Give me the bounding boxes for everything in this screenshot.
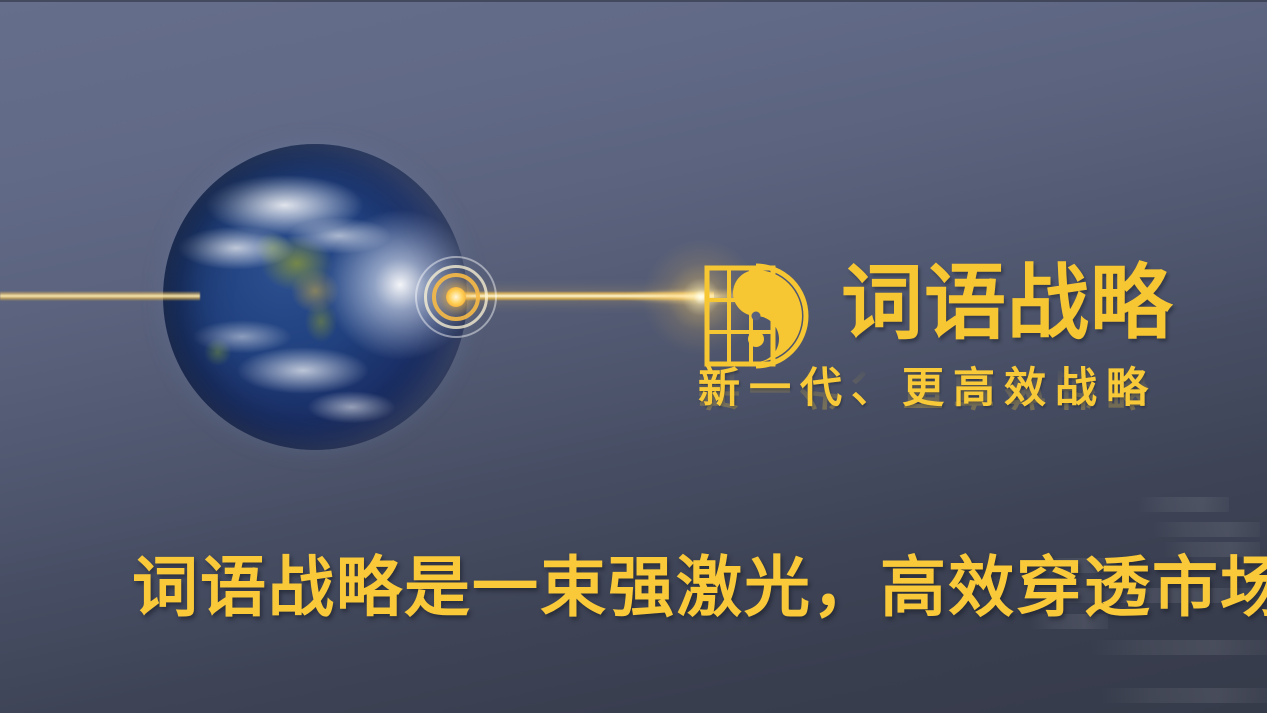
speed-streak: [1152, 522, 1260, 537]
presentation-slide: 词语战略 新一代、更高效战略 新一代、更高效战略 词语战略是一束强激光，高效穿透…: [0, 0, 1267, 713]
top-edge-line: [0, 0, 1267, 2]
logo-title: 词语战略: [841, 256, 1173, 352]
laser-beam-outgoing: [452, 291, 714, 301]
speed-streak: [1100, 688, 1267, 703]
globe-yinyang-icon: [686, 262, 826, 370]
ciyu-zhanlue-logo-mark: [686, 262, 826, 370]
logo-lockup: 词语战略 新一代、更高效战略 新一代、更高效战略: [686, 256, 1216, 421]
laser-beam-glow: [452, 284, 714, 308]
globe-limb-shading: [163, 144, 467, 450]
headline-text: 词语战略是一束强激光，高效穿透市场: [132, 548, 1267, 626]
earth-globe: [163, 144, 467, 450]
speed-streak: [1090, 640, 1267, 655]
speed-streak: [1137, 497, 1229, 512]
logo-tagline: 新一代、更高效战略: [698, 362, 1157, 414]
